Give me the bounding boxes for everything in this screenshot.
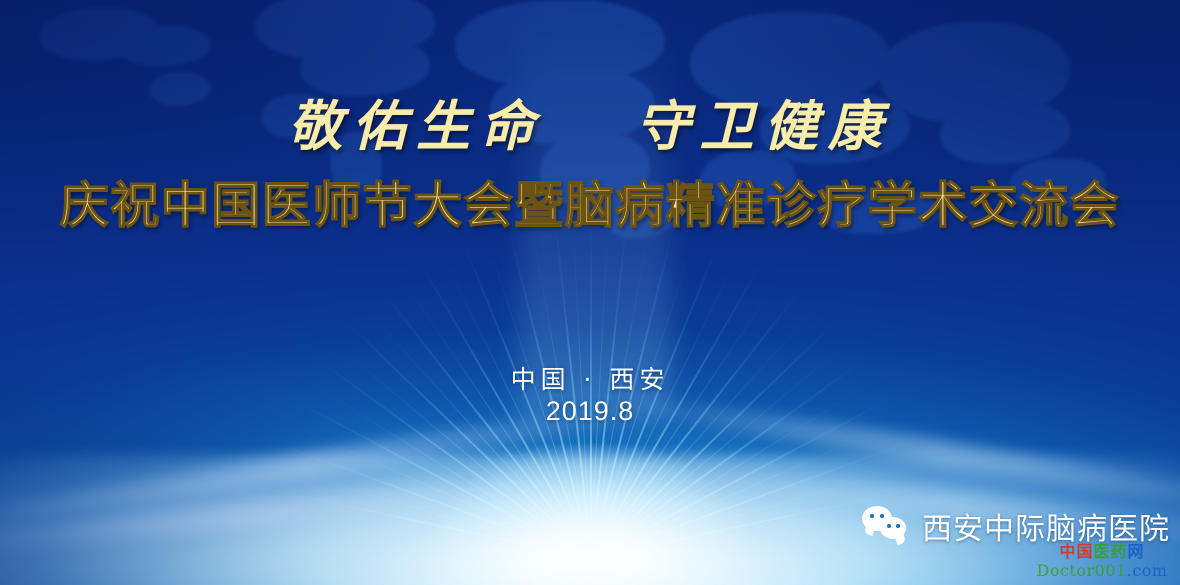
watermark-domain-name: Doctor001 xyxy=(1036,563,1126,580)
watermark-cn-char-1: 中 xyxy=(1059,544,1076,561)
watermark-cn-char-4: 药 xyxy=(1111,544,1128,561)
watermark-chinese: 中国医药网 xyxy=(1032,544,1172,561)
event-location: 中国 · 西安 xyxy=(0,360,1180,396)
page-title: 庆祝中国医师节大会暨脑病精准诊疗学术交流会 xyxy=(0,166,1180,237)
slogan-right: 守卫健康 xyxy=(636,94,892,158)
site-watermark: 中国医药网 Doctor001.com xyxy=(1032,544,1172,580)
slogan-line: 敬佑生命 守卫健康 xyxy=(0,82,1180,161)
slogan-left: 敬佑生命 xyxy=(288,94,544,158)
conference-poster: 敬佑生命 守卫健康 庆祝中国医师节大会暨脑病精准诊疗学术交流会 中国 · 西安 … xyxy=(0,0,1180,585)
watermark-cn-char-5: 网 xyxy=(1128,544,1145,561)
event-date: 2019.8 xyxy=(0,396,1180,427)
watermark-cn-char-2: 国 xyxy=(1076,544,1093,561)
wechat-icon xyxy=(862,506,912,546)
watermark-cn-char-3: 医 xyxy=(1093,544,1110,561)
watermark-domain: Doctor001.com xyxy=(1032,563,1172,580)
watermark-domain-tld: .com xyxy=(1127,563,1168,580)
